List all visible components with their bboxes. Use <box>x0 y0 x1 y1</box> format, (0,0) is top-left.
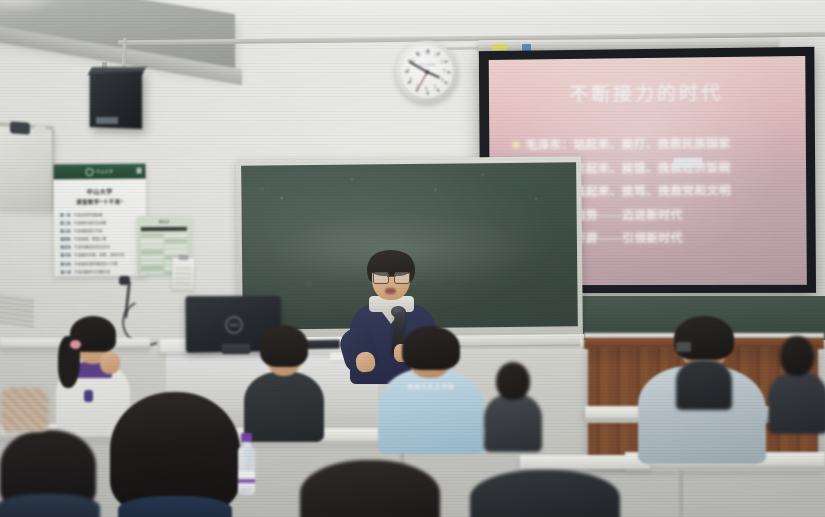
clock-tick <box>444 60 448 63</box>
schedule-cell <box>141 261 163 265</box>
clock-numeral: 8 <box>409 78 412 83</box>
student-shoulders <box>0 494 100 517</box>
student-foreground-center <box>110 392 240 517</box>
poster-rule-number: 第三条 <box>60 229 71 234</box>
student-head-back <box>470 470 620 517</box>
student-long-hair <box>110 392 240 512</box>
schedule-cell <box>141 256 163 260</box>
student-body <box>484 394 542 452</box>
slide-bullet-marker-icon <box>513 142 519 148</box>
poster-corner-mark <box>137 168 142 174</box>
clock-numeral: 12 <box>425 51 430 56</box>
schedule-cell <box>141 266 163 270</box>
poster-rule-item: 第八条不准泄露考试试题内容 <box>60 269 140 275</box>
schedule-cell <box>141 234 163 238</box>
student-right-dark <box>676 334 732 400</box>
schedule-title: 课程表 <box>137 219 191 224</box>
clock-center-pin <box>425 70 429 74</box>
student-shoulders <box>118 496 232 517</box>
schedule-header-bar <box>141 227 187 231</box>
slide-bullet-text: 毛泽东：站起来、挨打、挽救民族国家 <box>526 135 731 153</box>
poster-rule-text: 不准课堂接打手机 <box>74 229 103 234</box>
clock-tick <box>437 88 440 92</box>
slide-bullet-item: 毛泽东：站起来、挨打、挽救民族国家 <box>513 135 794 153</box>
poster-rule-number: 第八条 <box>60 270 71 275</box>
student-foreground-left <box>0 430 96 517</box>
water-bottle <box>238 433 255 495</box>
clock-numeral: 1 <box>434 53 437 58</box>
logo-text: 中山大学 <box>96 168 114 174</box>
student-head <box>780 336 814 376</box>
student-head <box>496 362 530 400</box>
poster-rule-text: 不准迟到早退缺课 <box>74 213 103 218</box>
student-dark-tshirt <box>244 326 324 430</box>
clipboard-clip <box>178 255 188 260</box>
schedule-cell <box>141 245 163 249</box>
poster-rule-number: 第一条 <box>60 213 71 218</box>
clock-numeral: 6 <box>425 87 428 92</box>
backpack-on-desk <box>2 388 48 432</box>
poster-rule-item: 第三条不准课堂接打手机 <box>60 229 140 235</box>
student-far-right <box>768 332 825 432</box>
schedule-cell <box>141 239 163 243</box>
projector-glare-patch <box>674 158 702 168</box>
poster-rule-text: 不准泄露考试试题内容 <box>74 270 110 275</box>
poster-rule-number: 第七条 <box>60 262 71 267</box>
wall-clock: 121234567891011 POLARIS <box>396 41 458 103</box>
lamp-glow <box>0 0 60 20</box>
lens-left <box>373 272 389 284</box>
clock-numeral: 2 <box>441 60 444 65</box>
poster-header: 中山大学 <box>54 164 146 180</box>
student-hair <box>260 325 308 367</box>
poster-rule-item: 第六条不准散布宗教、邪教、迷信内容 <box>60 253 140 259</box>
hair-tie <box>70 340 81 349</box>
student-foreground-far-right <box>470 470 620 517</box>
bottle-stripe <box>238 479 255 483</box>
poster-rule-number: 第二条 <box>60 221 71 226</box>
shirt-faculty-text: 地理与天文学院 <box>407 382 455 391</box>
poster-rule-number: 第五条 <box>60 246 71 251</box>
ac-cable-box <box>10 121 30 134</box>
student-hand <box>100 352 120 374</box>
dell-logo-icon <box>225 317 242 334</box>
student-center-right <box>484 360 542 450</box>
poster-rule-text: 不准传播违反宪法言论 <box>74 245 110 250</box>
housing-sticker-yellow <box>492 44 507 50</box>
ac-unit <box>0 126 54 212</box>
poster-rule-list: 第一条不准迟到早退缺课第二条不准照本宣科念讲稿第三条不准课堂接打手机第四条不准吸… <box>60 213 141 277</box>
schedule-cell <box>165 245 187 249</box>
schedule-cell <box>141 272 163 274</box>
hoodie-emblem <box>84 390 93 402</box>
mic-stand-head <box>119 276 130 285</box>
classroom-photo: 121234567891011 POLARIS 不断接力的时代 毛泽东：站起来、… <box>0 0 825 517</box>
student-front-blue-shirt: 地理与天文学院 <box>378 334 484 454</box>
clock-numeral: 3 <box>443 69 446 74</box>
schedule-cell <box>165 234 187 238</box>
student-hair <box>402 326 460 370</box>
clock-brand: POLARIS <box>419 63 436 67</box>
student-body <box>676 360 732 410</box>
poster-rule-text: 不准吸烟、喝酒上课 <box>74 237 106 242</box>
poster-rule-text: 不准擅自调停课或找人代课 <box>74 261 117 266</box>
poster-rule-text: 不准照本宣科念讲稿 <box>74 221 106 226</box>
poster-heading-line2: 课堂教学“十不准” <box>54 198 146 207</box>
clock-numeral: 11 <box>416 53 421 58</box>
clock-face: 121234567891011 POLARIS <box>401 46 453 98</box>
poster-rule-text: 不准散布宗教、邪教、迷信内容 <box>74 253 124 258</box>
bottle-cap <box>241 433 252 442</box>
student-body <box>768 372 825 434</box>
eyeglasses-icon <box>373 272 410 283</box>
blue-polo-body <box>378 368 484 454</box>
schedule-cell <box>165 250 187 254</box>
clock-tick <box>444 81 448 84</box>
poster-heading-line1: 中山大学 <box>54 187 146 197</box>
poster-rule-number: 第六条 <box>60 254 71 259</box>
clock-numeral: 9 <box>407 69 410 74</box>
tshirt-body <box>244 372 324 442</box>
schedule-cell <box>165 239 187 243</box>
lecturer-mouth <box>385 288 396 294</box>
clock-numeral: 5 <box>434 85 437 90</box>
student-desk-center-lower <box>520 455 650 469</box>
wall-clipboard <box>171 258 194 291</box>
poster-rule-item: 第七条不准擅自调停课或找人代课 <box>60 261 140 267</box>
bottle-neck <box>243 441 251 448</box>
ac-knob <box>34 124 46 135</box>
clock-tick <box>437 52 440 56</box>
lens-right <box>394 272 410 284</box>
poster-rule-number: 第四条 <box>60 238 71 243</box>
clock-tick <box>447 71 451 73</box>
poster-rule-item: 第四条不准吸烟、喝酒上课 <box>60 237 140 243</box>
poster-rule-item: 第五条不准传播违反宪法言论 <box>60 245 140 251</box>
logo-mark-icon <box>86 168 94 176</box>
classroom-rules-poster: 中山大学 中山大学 课堂教学“十不准” 第一条不准迟到早退缺课第二条不准照本宣科… <box>54 164 147 277</box>
poster-rule-item: 第二条不准照本宣科念讲稿 <box>60 221 140 227</box>
speaker-label <box>96 117 118 124</box>
slide-title: 不断接力的时代 <box>489 77 806 107</box>
student-hair <box>300 460 440 517</box>
student-foreground-right <box>300 460 440 517</box>
ac-vent <box>0 293 34 328</box>
clock-numeral: 4 <box>441 78 444 83</box>
university-logo: 中山大学 <box>86 167 114 175</box>
chalkboard-writing: • · <box>261 187 269 192</box>
poster-rule-item: 第一条不准迟到早退缺课 <box>60 213 140 219</box>
schedule-cell <box>141 250 163 254</box>
